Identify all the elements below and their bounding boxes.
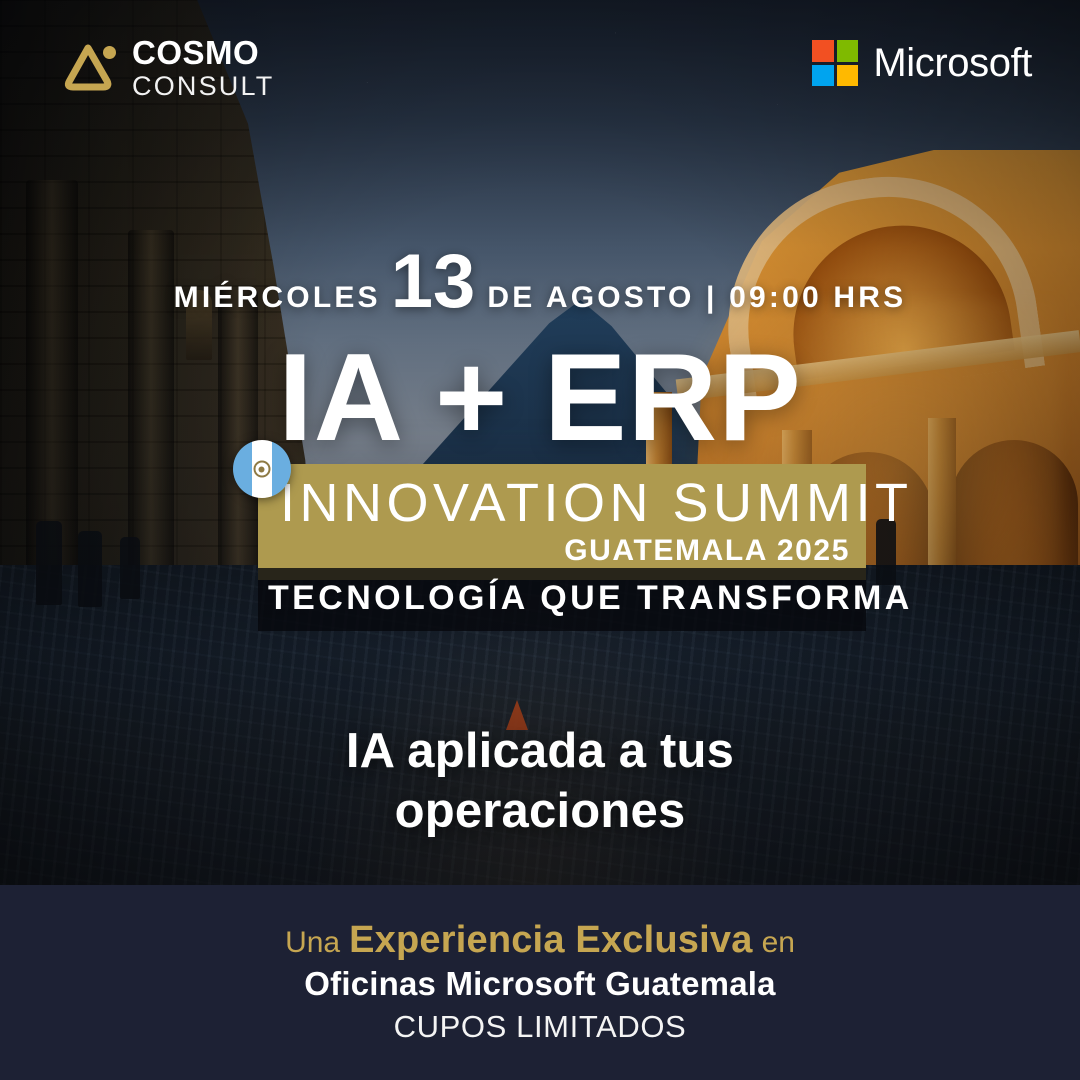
event-day-number: 13 [391, 252, 476, 313]
event-weekday: MIÉRCOLES [174, 281, 381, 315]
footer-suffix: en [762, 928, 795, 958]
cosmo-logo-line1: COSMO [132, 36, 274, 69]
cosmo-triangle-icon [62, 41, 118, 95]
event-date: MIÉRCOLES 13 DE AGOSTO | 09:00 HRS [0, 252, 1080, 315]
summit-title: INNOVATION SUMMIT [280, 474, 850, 532]
footer-venue: Oficinas Microsoft Guatemala [304, 965, 775, 1003]
footer-prefix: Una [285, 928, 340, 958]
subheadline-line2: operaciones [0, 782, 1080, 842]
subheadline-line1: IA aplicada a tus [0, 722, 1080, 782]
summit-subtitle: GUATEMALA 2025 [280, 534, 850, 568]
tagline-text: TECNOLOGÍA QUE TRANSFORMA [268, 579, 913, 617]
flag-coat-of-arms [253, 461, 270, 478]
cosmo-logo-line2: CONSULT [132, 73, 274, 100]
footer-exclusive-line: Una Experiencia Exclusiva en [285, 921, 795, 959]
summit-band: INNOVATION SUMMIT GUATEMALA 2025 [258, 464, 866, 580]
microsoft-logo[interactable]: Microsoft [812, 40, 1032, 86]
tagline-band: TECNOLOGÍA QUE TRANSFORMA [258, 568, 866, 631]
microsoft-squares-icon [812, 40, 858, 86]
microsoft-wordmark: Microsoft [873, 41, 1032, 86]
footer-band: Una Experiencia Exclusiva en Oficinas Mi… [0, 885, 1080, 1080]
subheadline: IA aplicada a tus operaciones [0, 722, 1080, 842]
footer-capacity-note: CUPOS LIMITADOS [394, 1009, 687, 1045]
footer-highlight: Experiencia Exclusiva [349, 921, 752, 959]
event-poster: COSMO CONSULT Microsoft MIÉRCOLES 13 DE … [0, 0, 1080, 1080]
event-month-and-time: DE AGOSTO | 09:00 HRS [487, 281, 906, 315]
guatemala-flag-icon [233, 440, 291, 498]
page-title: IA + ERP [0, 336, 1080, 460]
cosmo-consult-logo[interactable]: COSMO CONSULT [62, 36, 274, 100]
flag-band-center [252, 440, 271, 498]
